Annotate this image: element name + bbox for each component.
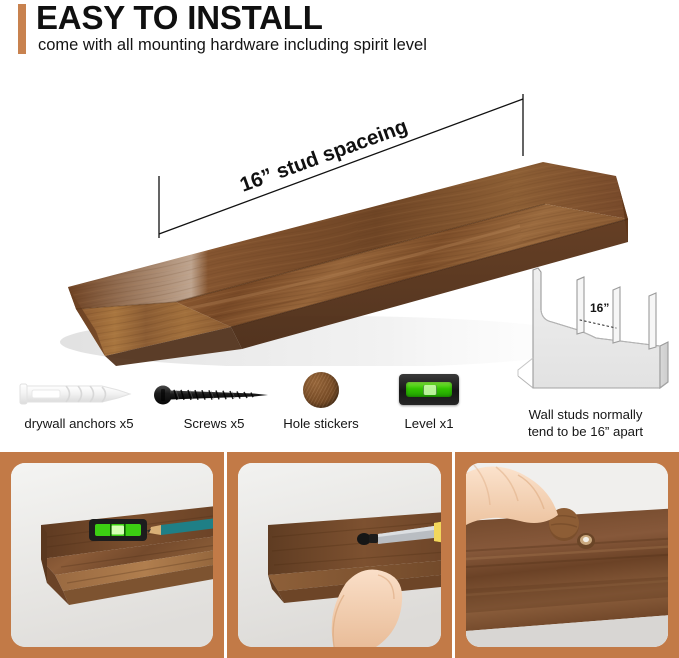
photo-panel-strip <box>0 452 679 658</box>
page-subtitle: come with all mounting hardware includin… <box>38 34 427 56</box>
hole-sticker-icon <box>303 372 339 408</box>
level-bubble <box>423 385 437 395</box>
hardware-item-hole-stickers: Hole stickers <box>262 368 380 431</box>
hardware-label-hole-stickers: Hole stickers <box>262 416 380 431</box>
panel-level-icon <box>89 519 147 541</box>
hardware-item-level: Level x1 <box>370 368 488 431</box>
hardware-label-drywall-anchors: drywall anchors x5 <box>6 416 152 431</box>
wall-studs-caption: Wall studs normally tend to be 16” apart <box>492 406 679 440</box>
hardware-label-screws: Screws x5 <box>150 416 278 431</box>
page-title: EASY TO INSTALL <box>36 0 323 38</box>
hardware-list: drywall anchors x5 <box>0 368 480 448</box>
photo-panel-level-and-pencil <box>0 452 224 658</box>
photo-panel-driving-screw <box>227 452 451 658</box>
wall-studs-caption-line1: Wall studs normally <box>492 406 679 423</box>
header: EASY TO INSTALL come with all mounting h… <box>0 0 679 68</box>
dimension-label-text: 16” stud spaceing <box>237 115 411 197</box>
photo-panel-hole-sticker <box>455 452 679 658</box>
stud-measure-label: 16” <box>590 301 609 315</box>
accent-bar <box>18 4 26 54</box>
level-vial <box>406 382 452 397</box>
hardware-item-drywall-anchors: drywall anchors x5 <box>6 368 152 431</box>
wall-studs-caption-line2: tend to be 16” apart <box>492 423 679 440</box>
hardware-label-level: Level x1 <box>370 416 488 431</box>
drywall-anchor-icon <box>6 374 152 414</box>
hardware-item-screws: Screws x5 <box>150 368 278 431</box>
spirit-level-icon <box>399 374 459 405</box>
screw-icon <box>150 376 278 414</box>
